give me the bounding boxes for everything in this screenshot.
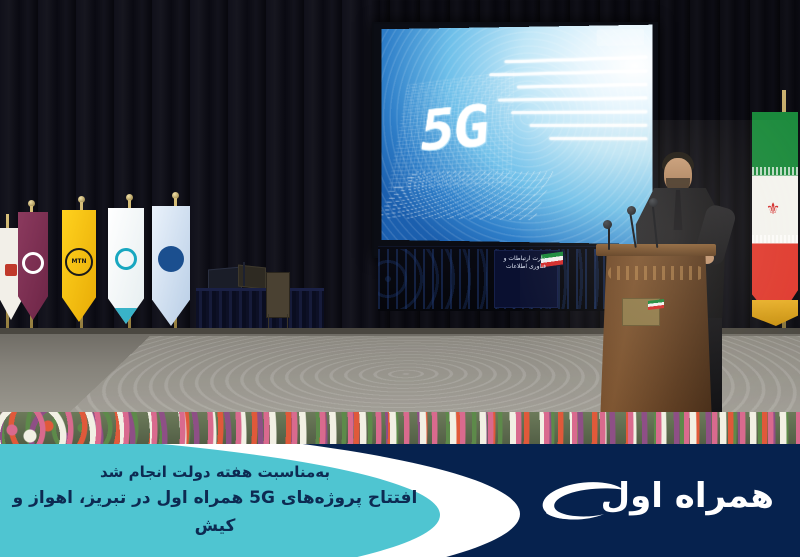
slide-corner-logo-icon: [597, 29, 644, 46]
iran-flag-emblem-icon: ⚜: [764, 200, 782, 218]
event-photo: 5G وزارت ارتباطات و فناوری اطلاعات: [0, 0, 800, 450]
iran-flag-kufic-band: [752, 235, 798, 243]
slide-line: [504, 56, 647, 64]
hamrah-aval-logo[interactable]: همراه اول: [532, 472, 782, 534]
podium-microphone-head: [649, 198, 658, 207]
podium-carved-ornament: [608, 266, 704, 280]
banner-caption-line1: به‌مناسبت هفته دولت انجام شد: [0, 460, 430, 484]
slide-line: [530, 124, 648, 127]
flag-partial-left-mark: [5, 264, 17, 276]
iran-flag: ⚜: [752, 112, 798, 324]
slide-line: [489, 69, 648, 76]
flag-shatel-mark: [115, 248, 137, 270]
podium-microphone-stem: [608, 226, 610, 250]
podium-plaque: [622, 298, 660, 326]
table-microphone: [243, 262, 245, 286]
slide-line: [498, 96, 647, 101]
iran-flag-kufic-band: [752, 167, 798, 175]
slide-line: [511, 110, 648, 114]
podium-microphone-head: [627, 206, 636, 215]
slide-bullet-lines: [483, 45, 648, 212]
screenshot-root: 5G وزارت ارتباطات و فناوری اطلاعات: [0, 0, 800, 557]
slide-line: [517, 83, 647, 89]
flag-tci-mark: [158, 246, 184, 272]
podium-microphone-head: [603, 220, 612, 229]
caption-banner: به‌مناسبت هفته دولت انجام شد افتتاح پروژ…: [0, 444, 800, 557]
flag-irancell-mtn-mark: MTN: [65, 248, 93, 276]
flag-rightel-mark: [22, 252, 44, 274]
chair: [266, 272, 290, 318]
ministry-emblem: وزارت ارتباطات و فناوری اطلاعات: [494, 250, 558, 308]
slide-line: [549, 137, 647, 140]
ministry-emblem-text: وزارت ارتباطات و فناوری اطلاعات: [499, 255, 553, 303]
banner-caption: به‌مناسبت هفته دولت انجام شد افتتاح پروژ…: [0, 460, 430, 540]
banner-caption-line2: افتتاح پروژه‌های 5G همراه اول در تبریز، …: [0, 484, 430, 540]
projection-screen: 5G: [381, 25, 652, 245]
mci-swoosh-icon: [538, 480, 630, 526]
